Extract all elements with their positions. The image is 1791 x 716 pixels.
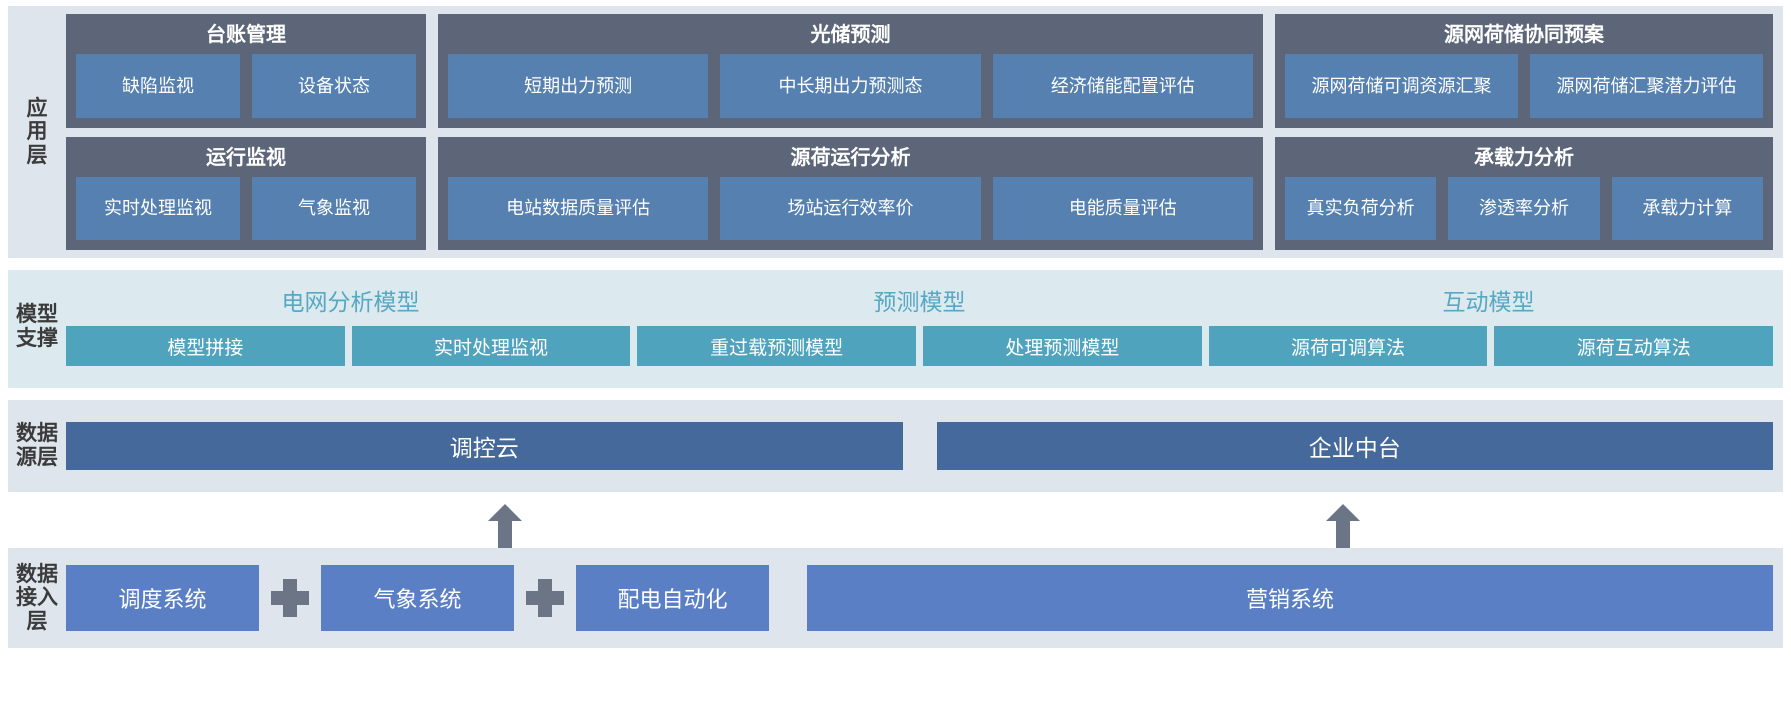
app-chip[interactable]: 电站数据质量评估	[448, 177, 708, 241]
app-group-hosting-capacity-analysis[interactable]: 承载力分析 真实负荷分析 渗透率分析 承载力计算	[1275, 137, 1773, 251]
model-label-line-1: 模型	[16, 303, 58, 327]
plus-icon-1	[259, 579, 321, 617]
data-access-box-marketing-system[interactable]: 营销系统	[807, 565, 1773, 631]
app-group-title: 光储预测	[811, 22, 891, 48]
data-source-layer-band: 数据 源层 调控云 企业中台	[8, 400, 1783, 492]
app-chip[interactable]: 场站运行效率价	[720, 177, 980, 241]
app-chip-row: 实时处理监视 气象监视	[76, 177, 416, 241]
application-label-char-1: 应	[27, 97, 48, 121]
app-chip[interactable]: 短期出力预测	[448, 54, 708, 118]
data-access-box-weather-system[interactable]: 气象系统	[321, 565, 514, 631]
app-group-title: 台账管理	[206, 22, 286, 48]
data-access-boxes: 调度系统 气象系统 配电自动化 营销系统	[66, 565, 1773, 631]
app-group-title: 源网荷储协同预案	[1444, 22, 1604, 48]
data-access-layer-band: 数据 接入 层 调度系统 气象系统 配电自动化 营销系统	[8, 548, 1783, 648]
model-heading-interaction: 互动模型	[1204, 283, 1773, 317]
model-chip[interactable]: 源荷可调算法	[1209, 326, 1488, 366]
app-group-source-load-operation-analysis[interactable]: 源荷运行分析 电站数据质量评估 场站运行效率价 电能质量评估	[438, 137, 1263, 251]
arrow-connectors	[8, 504, 1783, 548]
app-chip[interactable]: 源网荷储可调资源汇聚	[1285, 54, 1518, 118]
app-chip[interactable]: 电能质量评估	[993, 177, 1253, 241]
data-access-label-line-2: 接入	[16, 586, 58, 610]
data-source-boxes: 调控云 企业中台	[66, 422, 1773, 470]
model-label-line-2: 支撑	[16, 327, 58, 351]
model-chip[interactable]: 模型拼接	[66, 326, 345, 366]
model-chip[interactable]: 处理预测模型	[923, 326, 1202, 366]
app-chip[interactable]: 中长期出力预测态	[720, 54, 980, 118]
model-heading-grid-analysis: 电网分析模型	[66, 283, 635, 317]
data-access-layer-label: 数据 接入 层	[8, 563, 66, 634]
app-chip-row: 缺陷监视 设备状态	[76, 54, 416, 118]
architecture-diagram: 应 用 层 台账管理 缺陷监视 设备状态 光储预测 短期出力预测	[0, 0, 1791, 716]
app-chip-row: 电站数据质量评估 场站运行效率价 电能质量评估	[448, 177, 1253, 241]
app-chip-row: 源网荷储可调资源汇聚 源网荷储汇聚潜力评估	[1285, 54, 1763, 118]
model-chip[interactable]: 实时处理监视	[352, 326, 631, 366]
app-chip[interactable]: 承载力计算	[1612, 177, 1763, 241]
application-label-char-3: 层	[27, 144, 48, 168]
application-layer-label: 应 用 层	[8, 14, 66, 250]
application-groups-grid: 台账管理 缺陷监视 设备状态 光储预测 短期出力预测 中长期出力预测态 经济储能…	[66, 14, 1773, 250]
application-label-char-2: 用	[27, 120, 48, 144]
model-heading-forecast: 预测模型	[635, 283, 1204, 317]
model-support-layer-label: 模型 支撑	[8, 274, 66, 380]
data-source-box-dispatch-cloud[interactable]: 调控云	[66, 422, 903, 470]
data-access-label-line-3: 层	[16, 610, 58, 634]
app-chip[interactable]: 气象监视	[252, 177, 416, 241]
model-chip[interactable]: 源荷互动算法	[1494, 326, 1773, 366]
application-row-bottom: 运行监视 实时处理监视 气象监视 源荷运行分析 电站数据质量评估 场站运行效率价…	[66, 137, 1773, 251]
data-source-label-line-1: 数据	[16, 422, 58, 446]
data-source-layer-label: 数据 源层	[8, 422, 66, 469]
data-source-box-enterprise-platform[interactable]: 企业中台	[937, 422, 1774, 470]
app-chip[interactable]: 实时处理监视	[76, 177, 240, 241]
app-group-title: 运行监视	[206, 145, 286, 171]
data-access-label-line-1: 数据	[16, 563, 58, 587]
app-chip[interactable]: 经济储能配置评估	[993, 54, 1253, 118]
data-access-box-distribution-automation[interactable]: 配电自动化	[576, 565, 769, 631]
app-group-title: 源荷运行分析	[791, 145, 911, 171]
app-chip-row: 真实负荷分析 渗透率分析 承载力计算	[1285, 177, 1763, 241]
app-group-ledger-management[interactable]: 台账管理 缺陷监视 设备状态	[66, 14, 426, 128]
model-support-layer-band: 模型 支撑 电网分析模型 预测模型 互动模型 模型拼接 实时处理监视 重过载预测…	[8, 270, 1783, 388]
app-chip[interactable]: 渗透率分析	[1448, 177, 1599, 241]
app-chip-row: 短期出力预测 中长期出力预测态 经济储能配置评估	[448, 54, 1253, 118]
app-chip[interactable]: 缺陷监视	[76, 54, 240, 118]
data-source-label-line-2: 源层	[16, 446, 58, 470]
up-arrow-icon-left	[488, 504, 522, 548]
data-access-box-dispatch-system[interactable]: 调度系统	[66, 565, 259, 631]
app-chip[interactable]: 真实负荷分析	[1285, 177, 1436, 241]
app-chip[interactable]: 设备状态	[252, 54, 416, 118]
app-group-title: 承载力分析	[1474, 145, 1574, 171]
app-group-pv-storage-forecast[interactable]: 光储预测 短期出力预测 中长期出力预测态 经济储能配置评估	[438, 14, 1263, 128]
application-row-top: 台账管理 缺陷监视 设备状态 光储预测 短期出力预测 中长期出力预测态 经济储能…	[66, 14, 1773, 128]
application-layer-band: 应 用 层 台账管理 缺陷监视 设备状态 光储预测 短期出力预测	[8, 6, 1783, 258]
app-chip[interactable]: 源网荷储汇聚潜力评估	[1530, 54, 1763, 118]
plus-icon-2	[514, 579, 576, 617]
model-chip[interactable]: 重过载预测模型	[637, 326, 916, 366]
app-group-source-grid-load-storage-plan[interactable]: 源网荷储协同预案 源网荷储可调资源汇聚 源网荷储汇聚潜力评估	[1275, 14, 1773, 128]
model-chips-row: 模型拼接 实时处理监视 重过载预测模型 处理预测模型 源荷可调算法 源荷互动算法	[66, 326, 1773, 366]
up-arrow-icon-right	[1326, 504, 1360, 548]
model-body: 电网分析模型 预测模型 互动模型 模型拼接 实时处理监视 重过载预测模型 处理预…	[66, 274, 1773, 380]
model-headings-row: 电网分析模型 预测模型 互动模型	[66, 274, 1773, 326]
app-group-operation-monitoring[interactable]: 运行监视 实时处理监视 气象监视	[66, 137, 426, 251]
